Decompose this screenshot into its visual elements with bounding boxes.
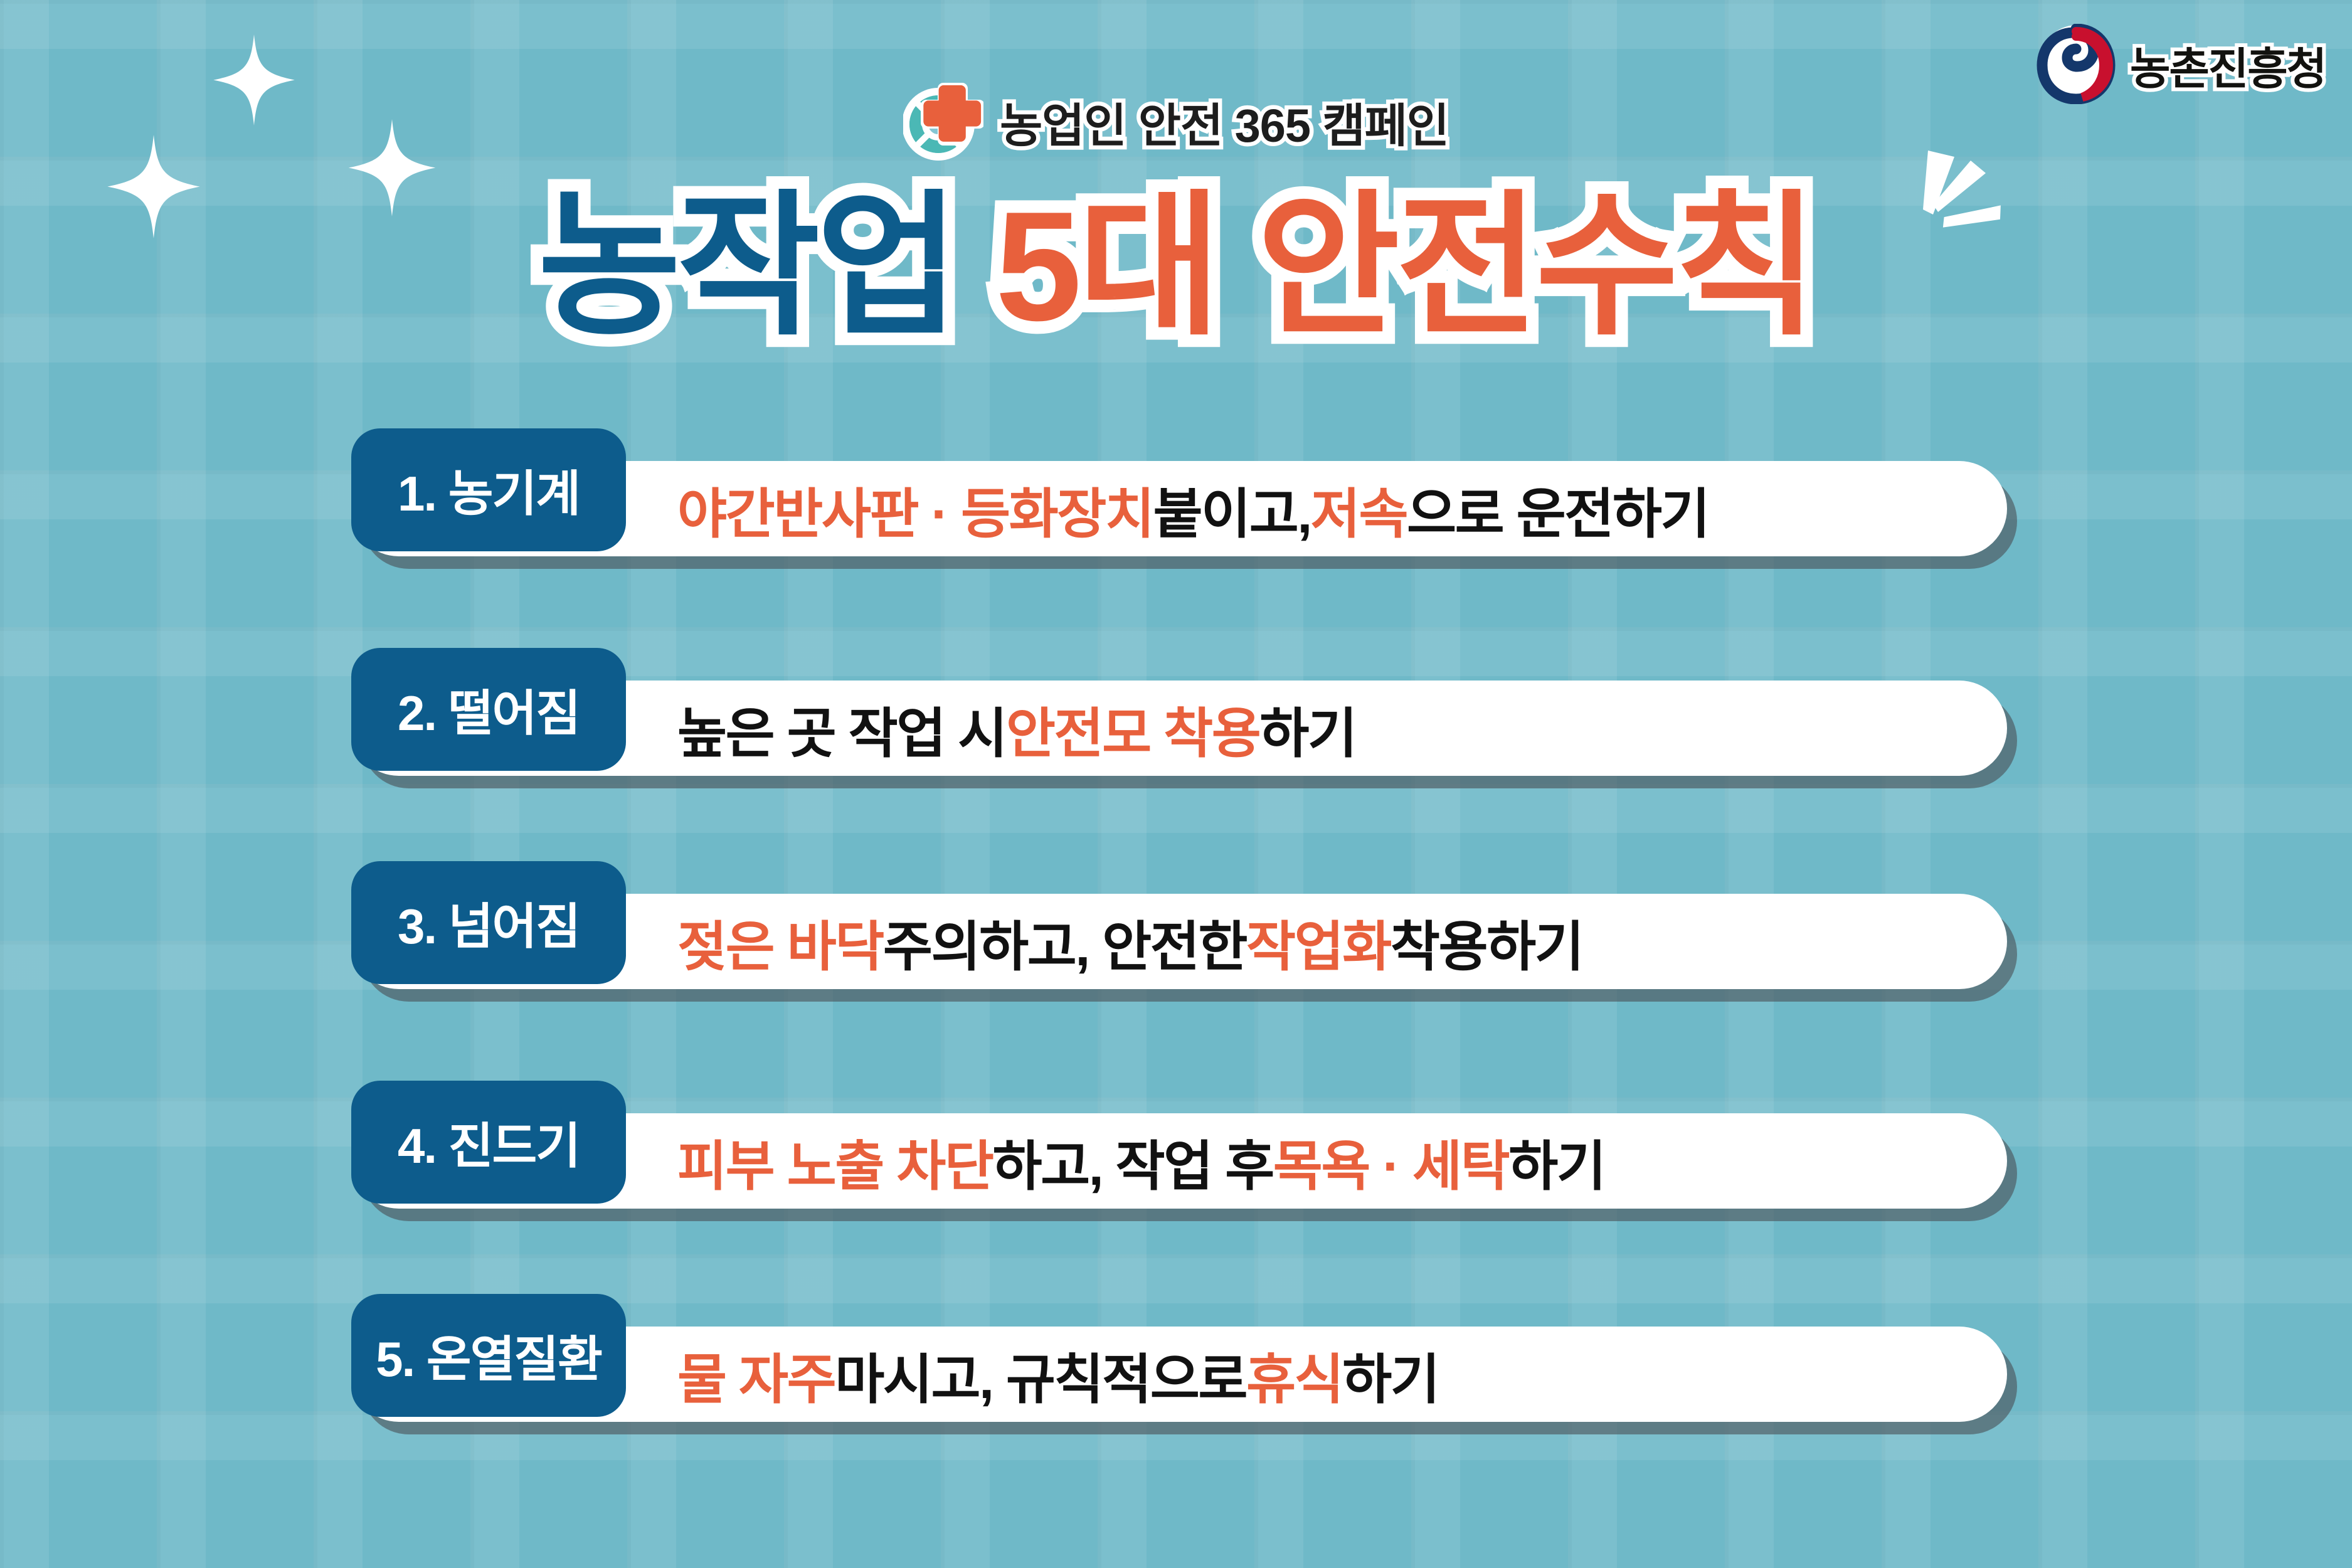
rule-text-normal: 하기 [1508, 1122, 1604, 1200]
rule-text-normal: 하고, 작업 후 [993, 1122, 1273, 1200]
rule-text-highlight: 야간반사판 · 등화장치 [677, 470, 1153, 548]
rule-badge-1: 1. 농기계 [351, 428, 626, 551]
rule-text-highlight: 안전모 착용 [1006, 689, 1260, 768]
rule-text-normal: 으로 운전하기 [1407, 470, 1708, 548]
rule-text-highlight: 저속 [1311, 470, 1407, 548]
rule-text-normal: 하기 [1342, 1335, 1438, 1414]
rule-text-2: 높은 곳 작업 시 안전모 착용하기 [677, 681, 1356, 776]
rule-text-highlight: 휴식 [1246, 1335, 1342, 1414]
rule-text-normal: 마시고, 규칙적으로 [835, 1335, 1246, 1414]
rule-text-4: 피부 노출 차단하고, 작업 후 목욕 · 세탁하기 [677, 1113, 1604, 1209]
rule-text-normal: 붙이고, [1153, 470, 1311, 548]
rule-text-highlight: 작업화 [1246, 903, 1391, 981]
rule-text-highlight: 피부 노출 차단 [677, 1122, 993, 1200]
rule-badge-5: 5. 온열질환 [351, 1294, 626, 1417]
rule-row: 젖은 바닥 주의하고, 안전한 작업화 착용하기3. 넘어짐 [351, 894, 2007, 1019]
rule-text-normal: 착용하기 [1391, 903, 1582, 981]
rule-row: 물 자주 마시고, 규칙적으로 휴식하기5. 온열질환 [351, 1327, 2007, 1452]
rule-text-highlight: 물 자주 [677, 1335, 835, 1414]
rule-badge-2: 2. 떨어짐 [351, 648, 626, 771]
rule-badge-4: 4. 진드기 [351, 1081, 626, 1204]
rules-list: 야간반사판 · 등화장치 붙이고, 저속으로 운전하기1. 농기계높은 곳 작업… [0, 0, 2352, 1568]
rule-text-normal: 높은 곳 작업 시 [677, 689, 1006, 768]
rule-text-3: 젖은 바닥 주의하고, 안전한 작업화 착용하기 [677, 894, 1582, 989]
rule-badge-3: 3. 넘어짐 [351, 861, 626, 984]
rule-row: 높은 곳 작업 시 안전모 착용하기2. 떨어짐 [351, 681, 2007, 806]
rule-row: 야간반사판 · 등화장치 붙이고, 저속으로 운전하기1. 농기계 [351, 461, 2007, 586]
rule-text-normal: 주의하고, 안전한 [883, 903, 1246, 981]
rule-text-1: 야간반사판 · 등화장치 붙이고, 저속으로 운전하기 [677, 461, 1708, 556]
rule-text-highlight: 젖은 바닥 [677, 903, 883, 981]
rule-text-5: 물 자주 마시고, 규칙적으로 휴식하기 [677, 1327, 1439, 1422]
poster-canvas: 농업인 안전 365 캠페인 농촌진흥청 농작업 5대 안전수칙 야간반사판 ·… [0, 0, 2352, 1568]
rule-text-normal: 하기 [1259, 689, 1355, 768]
rule-row: 피부 노출 차단하고, 작업 후 목욕 · 세탁하기4. 진드기 [351, 1113, 2007, 1239]
rule-text-highlight: 목욕 · 세탁 [1273, 1122, 1508, 1200]
